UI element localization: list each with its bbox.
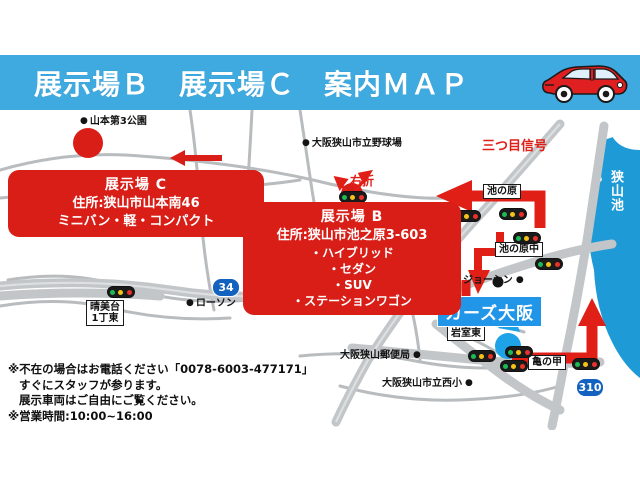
callout-c-address: 住所:狭山市山本南46 [18, 195, 254, 213]
callout-b-item-2: ・SUV [253, 277, 451, 293]
intersection-harumidai-line2: 1丁東 [90, 313, 120, 324]
page-title: 展示場Ｂ 展示場Ｃ 案内ＭＡＰ [34, 63, 469, 103]
signal-ikenohara [499, 208, 527, 220]
poi-label-nishi-elementary: 大阪狭山市立西小 [382, 378, 473, 389]
signal-kamenoko [572, 358, 600, 370]
note-line-4: ※営業時間:10:00~16:00 [8, 409, 308, 425]
poi-label-lawson: ローソン [186, 298, 236, 309]
intersection-iwamuro-higashi: 岩室東 [447, 326, 485, 341]
note-line-1: ※不在の場合はお電話ください「0078-6003-477171」 [8, 362, 308, 378]
poi-label-post-office: 大阪狭山郵便局 [340, 350, 421, 361]
poi-label-yamamoto-park: 山本第3公園 [80, 116, 147, 127]
intersection-harumidai: 晴美台 1丁東 [86, 300, 124, 326]
callout-b-item-3: ・ステーションワゴン [253, 293, 451, 309]
callout-b-item-0: ・ハイブリッド [253, 245, 451, 261]
intersection-ikenohara-naka: 池の原中 [495, 242, 543, 257]
signal-post-office [468, 350, 496, 362]
red-car-icon [538, 63, 630, 105]
callout-c-title: 展示場 C [18, 176, 254, 195]
footer-note: ※不在の場合はお電話ください「0078-6003-477171」 すぐにスタッフ… [8, 362, 308, 424]
signal-harumidai [107, 286, 135, 298]
callout-showroom-c: 展示場 C 住所:狭山市山本南46 ミニバン・軽・コンパクト [8, 170, 264, 237]
note-line-3: 展示車両はご自由にご覧ください。 [8, 393, 308, 409]
route-shield-310: 310 [576, 378, 604, 397]
callout-c-item-0: ミニバン・軽・コンパクト [18, 213, 254, 231]
pond-label: 狭山池 [608, 170, 623, 212]
poi-label-baseball-stadium: 大阪狭山市立野球場 [302, 138, 402, 149]
callout-b-item-1: ・セダン [253, 261, 451, 277]
route-shield-34: 34 [212, 278, 240, 297]
map-flyer: 展示場Ｂ 展示場Ｃ 案内ＭＡＰ [0, 0, 640, 480]
signal-ikenohara-naka-s [535, 258, 563, 270]
callout-showroom-b: 展示場 B 住所:狭山市池之原3-603 ・ハイブリッド ・セダン ・SUV ・… [243, 202, 461, 315]
note-line-2: すぐにスタッフが参ります。 [8, 378, 308, 394]
poi-label-joshin: ジョーシン [463, 275, 524, 286]
intersection-ikenohara: 池の原 [483, 184, 521, 199]
annotation-third-signal: 三つ目信号 [482, 135, 547, 154]
signal-ikenohara-naka-n [513, 232, 541, 244]
annotation-right-turn: 右折 [350, 172, 374, 189]
header-bar: 展示場Ｂ 展示場Ｃ 案内ＭＡＰ [0, 55, 640, 110]
intersection-harumidai-line1: 晴美台 [90, 302, 120, 313]
callout-b-address: 住所:狭山市池之原3-603 [253, 227, 451, 245]
intersection-kamenoko: 亀の甲 [528, 355, 566, 370]
callout-b-title: 展示場 B [253, 208, 451, 227]
signal-iwamuro [500, 360, 528, 372]
signal-west-kamenoko [505, 346, 533, 358]
